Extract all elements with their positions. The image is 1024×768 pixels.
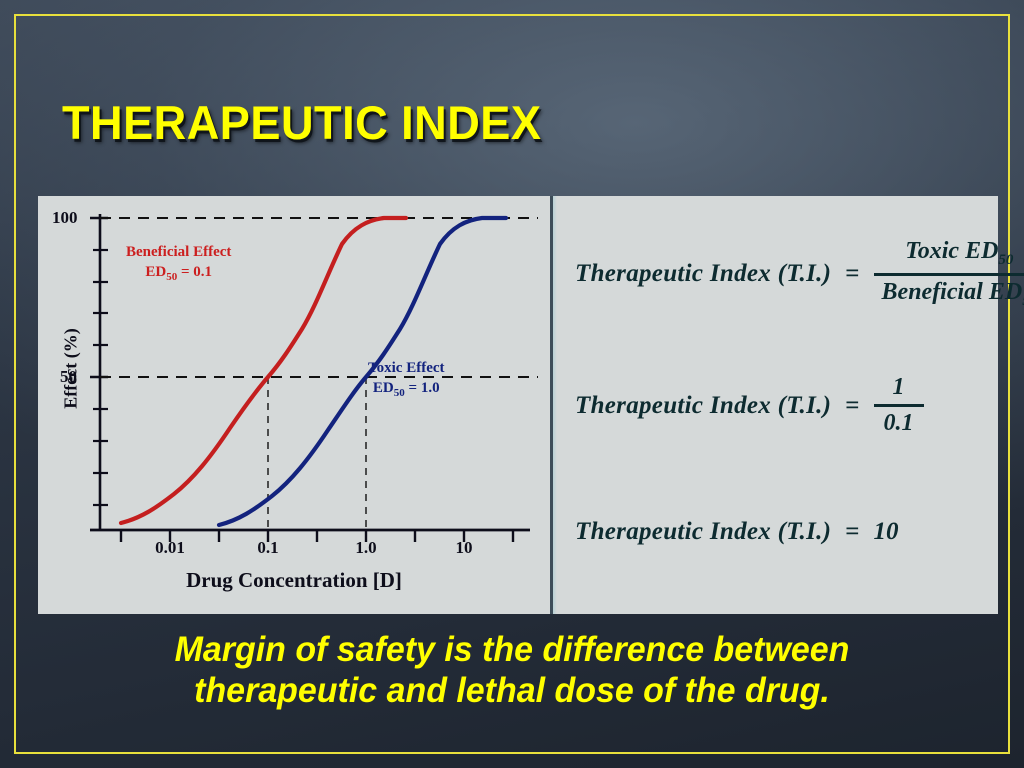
equation-1-lhs: Therapeutic Index (T.I.) — [575, 260, 831, 288]
equation-3-value: 10 — [874, 518, 899, 546]
equation-1-fraction-bar — [874, 273, 1024, 276]
y-tick-label-100: 100 — [52, 208, 78, 228]
annotation-beneficial-title: Beneficial Effect — [126, 242, 231, 262]
annotation-beneficial-ed50: ED50 = 0.1 — [126, 262, 231, 285]
equation-2-fraction-bar — [874, 404, 924, 407]
x-tick-label-2: 1.0 — [355, 538, 376, 558]
y-axis-title: Effect (%) — [61, 304, 82, 434]
equation-2-denominator: 0.1 — [874, 410, 924, 437]
x-axis-title: Drug Concentration [D] — [38, 568, 550, 593]
slide-canvas: THERAPEUTIC INDEX — [0, 0, 1024, 768]
equation-1-numerator: Toxic ED50 — [897, 238, 1021, 270]
chart-svg — [38, 196, 550, 614]
annotation-beneficial-effect: Beneficial Effect ED50 = 0.1 — [126, 242, 231, 285]
annotation-toxic-title: Toxic Effect — [368, 358, 445, 378]
curve-toxic-effect — [219, 218, 506, 525]
caption-line-1: Margin of safety is the difference betwe… — [54, 630, 970, 671]
equation-1-denominator: Beneficial ED50 — [874, 279, 1024, 311]
dose-response-chart: 100 50 Effect (%) 0.01 0.1 1.0 10 Drug C… — [38, 196, 550, 614]
equation-2-fraction: 1 0.1 — [874, 374, 924, 437]
equation-2-equals: = — [845, 392, 859, 420]
page-title: THERAPEUTIC INDEX — [62, 95, 541, 150]
x-tick-label-0: 0.01 — [155, 538, 185, 558]
annotation-toxic-effect: Toxic Effect ED50 = 1.0 — [368, 358, 445, 401]
x-tick-label-1: 0.1 — [257, 538, 278, 558]
equation-1-fraction: Toxic ED50 Beneficial ED50 — [874, 238, 1024, 310]
equation-3-lhs: Therapeutic Index (T.I.) — [575, 518, 831, 546]
slide-caption: Margin of safety is the difference betwe… — [54, 630, 970, 711]
equation-definition: Therapeutic Index (T.I.) = Toxic ED50 Be… — [575, 238, 1024, 310]
equation-result: Therapeutic Index (T.I.) = 10 — [575, 518, 899, 546]
equations-panel: Therapeutic Index (T.I.) = Toxic ED50 Be… — [557, 196, 998, 614]
annotation-toxic-ed50: ED50 = 1.0 — [368, 378, 445, 401]
x-tick-label-3: 10 — [456, 538, 473, 558]
equation-1-equals: = — [845, 260, 859, 288]
caption-line-2: therapeutic and lethal dose of the drug. — [54, 671, 970, 712]
equation-2-numerator: 1 — [883, 374, 915, 401]
equation-substituted: Therapeutic Index (T.I.) = 1 0.1 — [575, 374, 924, 437]
equation-3-equals: = — [845, 518, 859, 546]
equation-2-lhs: Therapeutic Index (T.I.) — [575, 392, 831, 420]
content-board: 100 50 Effect (%) 0.01 0.1 1.0 10 Drug C… — [38, 196, 998, 614]
